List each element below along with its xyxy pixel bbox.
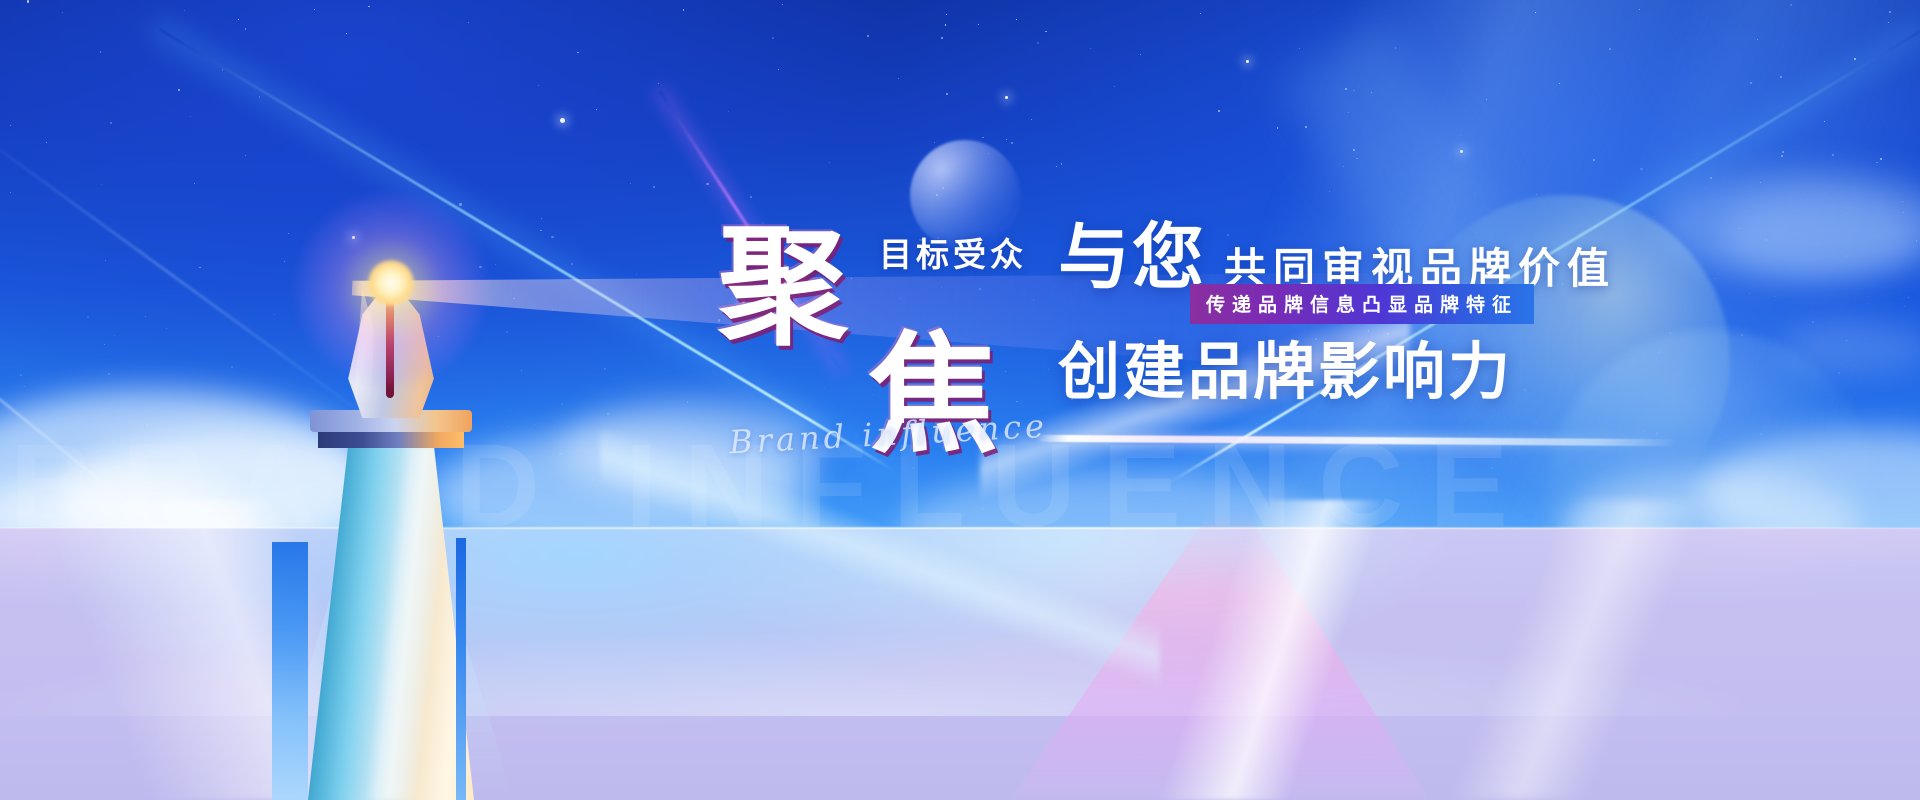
audience-tag: 目标受众: [879, 228, 1027, 276]
banner-content: 聚 焦 目标受众 Brand influence 与您 共同审视品牌价值 传递品…: [0, 0, 1920, 800]
brand-banner: BRAND INFLUENCE 聚 焦 目标受众 Brand influence: [0, 0, 1920, 800]
headline-line-2: 创建品牌影响力: [1058, 342, 1513, 404]
status-badge: 传递品牌信息凸显品牌特征: [1190, 284, 1534, 324]
headline-line-1-emphasis: 与您: [1058, 222, 1206, 294]
headline-glyph-ju: 聚: [718, 222, 848, 352]
